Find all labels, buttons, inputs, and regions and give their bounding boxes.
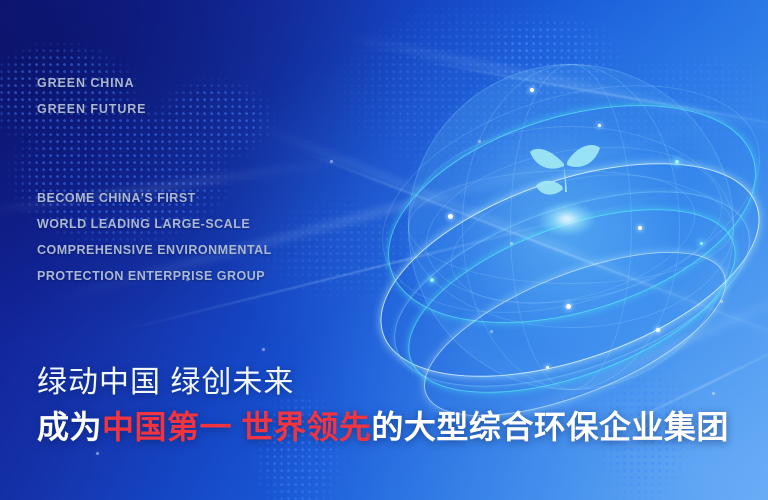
- sparkle: [478, 140, 481, 143]
- eyebrow-line-2: GREEN FUTURE: [37, 96, 146, 122]
- sparkle: [448, 214, 453, 219]
- mission-line-3: COMPREHENSIVE ENVIRONMENTAL: [37, 237, 272, 263]
- mission-line-2: WORLD LEADING LARGE-SCALE: [37, 211, 272, 237]
- headline-line-1: 绿动中国 绿创未来: [37, 362, 729, 404]
- headline: 绿动中国 绿创未来 成为中国第一 世界领先的大型综合环保企业集团: [37, 362, 729, 450]
- sparkle: [330, 160, 333, 163]
- sparkle: [656, 328, 660, 332]
- sprout-glow: [538, 202, 596, 236]
- mission-statement: BECOME CHINA'S FIRST WORLD LEADING LARGE…: [37, 185, 272, 289]
- sparkle: [566, 304, 571, 309]
- sprout-icon: [520, 130, 610, 240]
- mission-line-1: BECOME CHINA'S FIRST: [37, 185, 272, 211]
- headline-line-2: 成为中国第一 世界领先的大型综合环保企业集团: [37, 404, 729, 450]
- eyebrow-line-1: GREEN CHINA: [37, 70, 146, 96]
- sparkle: [700, 242, 703, 245]
- sparkle: [638, 226, 642, 230]
- sparkle: [490, 330, 493, 333]
- headline-highlight: 中国第一 世界领先: [102, 409, 371, 445]
- sparkle: [598, 124, 601, 127]
- sparkle: [675, 160, 679, 164]
- headline-suffix: 的大型综合环保企业集团: [371, 409, 729, 445]
- hero-banner: GREEN CHINA GREEN FUTURE BECOME CHINA'S …: [0, 0, 768, 500]
- eyebrow-text: GREEN CHINA GREEN FUTURE: [37, 70, 146, 122]
- sparkle: [430, 278, 434, 282]
- headline-prefix: 成为: [37, 409, 102, 445]
- sparkle: [96, 452, 99, 455]
- sparkle: [530, 88, 534, 92]
- sparkle: [262, 348, 265, 351]
- sparkle: [720, 300, 723, 303]
- mission-line-4: PROTECTION ENTERPRISE GROUP: [37, 263, 272, 289]
- sparkle: [510, 242, 513, 245]
